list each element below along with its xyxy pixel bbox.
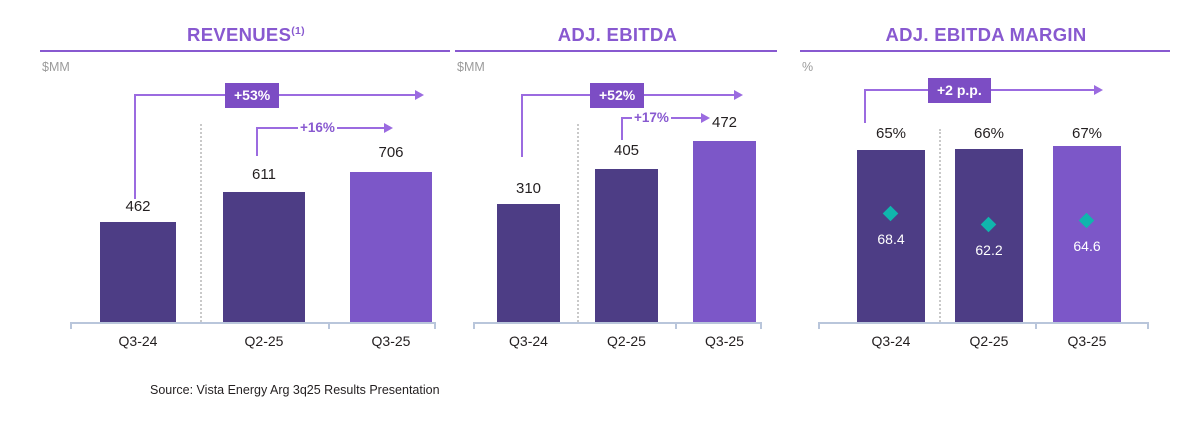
bar-q2-25 [595, 169, 658, 322]
title-rule [800, 50, 1170, 52]
bar-value-q3-24: 462 [100, 198, 176, 215]
annotation-arrowhead-main [1094, 85, 1103, 95]
annotation-arrowhead-secondary [384, 123, 393, 133]
source-note: Source: Vista Energy Arg 3q25 Results Pr… [150, 383, 440, 397]
bar-value-q3-24: 65% [857, 125, 925, 142]
category-label-q3-25: Q3-25 [350, 333, 432, 349]
bar-q2-25 [955, 149, 1023, 322]
annotation-badge-total: +2 p.p. [928, 78, 991, 103]
x-axis-tick-right [1147, 322, 1149, 329]
marker-value-q3-25: 64.6 [1053, 238, 1121, 254]
bar-q3-25 [350, 172, 432, 322]
bar-value-q3-25: 67% [1053, 125, 1121, 142]
annotation-badge-total: +53% [225, 83, 279, 108]
unit-label-adj-ebitda-margin: % [802, 60, 813, 74]
x-axis-tick-mid [328, 322, 330, 329]
bar-q3-24 [100, 222, 176, 322]
period-divider [200, 124, 202, 322]
x-axis-tick-left [70, 322, 72, 329]
bar-value-q3-24: 310 [497, 180, 560, 197]
panel-adj-ebitda: ADJ. EBITDA $MM +52% +17% 310 405 472 Q3… [455, 0, 780, 370]
unit-label-adj-ebitda: $MM [457, 60, 485, 74]
x-axis-line [473, 322, 761, 324]
bar-value-q3-25: 706 [350, 144, 432, 161]
x-axis-tick-left [818, 322, 820, 329]
panel-title-superscript: (1) [291, 25, 305, 37]
annotation-label-secondary: +16% [298, 121, 337, 135]
category-label-q3-24: Q3-24 [100, 333, 176, 349]
x-axis-line [70, 322, 435, 324]
x-axis-tick-mid [675, 322, 677, 329]
annotation-stem-main [521, 94, 523, 157]
panel-title-adj-ebitda: ADJ. EBITDA [455, 24, 780, 46]
bar-q3-25 [1053, 146, 1121, 322]
x-axis-tick-right [760, 322, 762, 329]
panel-revenues: REVENUES(1) $MM +53% +16% 462 611 706 Q3… [40, 0, 452, 370]
category-label-q3-25: Q3-25 [693, 333, 756, 349]
bar-value-q2-25: 66% [955, 125, 1023, 142]
bar-q3-24 [497, 204, 560, 322]
title-rule [455, 50, 777, 52]
bar-value-q3-25: 472 [693, 114, 756, 131]
annotation-stem-secondary [256, 127, 258, 156]
x-axis-tick-right [434, 322, 436, 329]
category-label-q3-24: Q3-24 [497, 333, 560, 349]
x-axis-tick-left [473, 322, 475, 329]
annotation-stem-main [134, 94, 136, 199]
annotation-stem-main [864, 89, 866, 123]
bar-q3-25 [693, 141, 756, 322]
bar-value-q2-25: 611 [223, 166, 305, 183]
annotation-stem-secondary [621, 117, 623, 140]
category-label-q2-25: Q2-25 [955, 333, 1023, 349]
panel-title-adj-ebitda-margin: ADJ. EBITDA MARGIN [800, 24, 1172, 46]
annotation-arrowhead-main [415, 90, 424, 100]
category-label-q3-25: Q3-25 [1053, 333, 1121, 349]
annotation-label-secondary: +17% [632, 111, 671, 125]
category-label-q2-25: Q2-25 [595, 333, 658, 349]
bar-q2-25 [223, 192, 305, 322]
x-axis-line [818, 322, 1148, 324]
annotation-arrowhead-main [734, 90, 743, 100]
annotation-badge-total: +52% [590, 83, 644, 108]
x-axis-tick-mid [1035, 322, 1037, 329]
marker-value-q2-25: 62.2 [955, 242, 1023, 258]
panel-adj-ebitda-margin: ADJ. EBITDA MARGIN % +2 p.p. 65% 66% 67%… [800, 0, 1172, 370]
period-divider [939, 129, 941, 322]
category-label-q2-25: Q2-25 [223, 333, 305, 349]
panel-title-revenues: REVENUES(1) [40, 24, 452, 46]
category-label-q3-24: Q3-24 [857, 333, 925, 349]
title-rule [40, 50, 450, 52]
chart-canvas: REVENUES(1) $MM +53% +16% 462 611 706 Q3… [0, 0, 1200, 428]
unit-label-revenues: $MM [42, 60, 70, 74]
period-divider [577, 124, 579, 322]
marker-value-q3-24: 68.4 [857, 231, 925, 247]
bar-value-q2-25: 405 [595, 142, 658, 159]
